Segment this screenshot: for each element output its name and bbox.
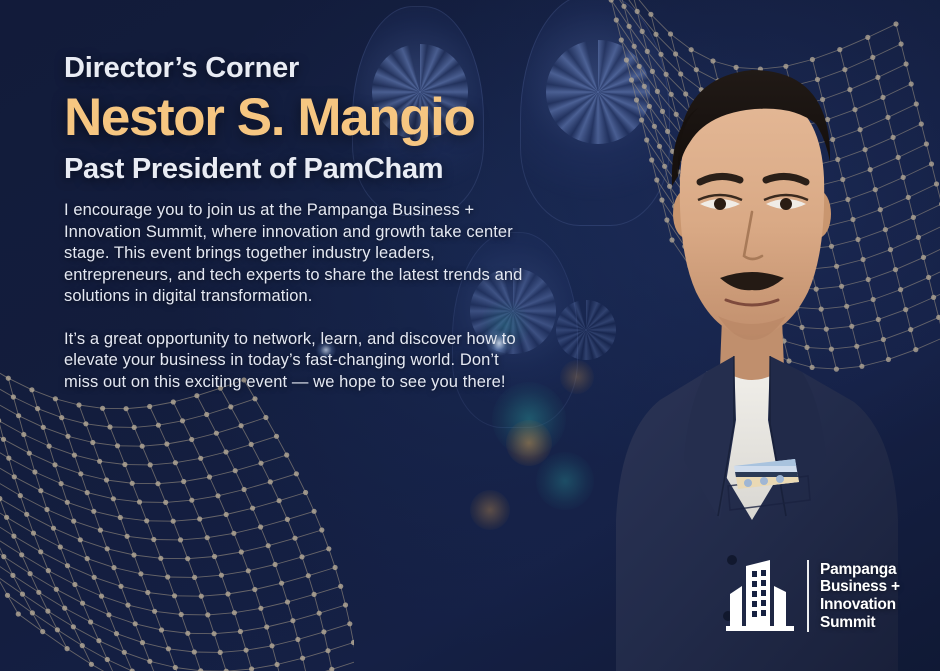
text-column: Director’s Corner Nestor S. Mangio Past …	[64, 52, 534, 393]
message-body: I encourage you to join us at the Pampan…	[64, 200, 534, 393]
logo-line-4: Summit	[820, 614, 900, 632]
paragraph: I encourage you to join us at the Pampan…	[64, 200, 534, 308]
logo-wordmark: Pampanga Business + Innovation Summit	[820, 561, 900, 631]
summit-logo: Pampanga Business + Innovation Summit	[724, 556, 900, 636]
amber-accent-glow	[470, 490, 510, 530]
directors-corner-poster: Director’s Corner Nestor S. Mangio Past …	[0, 0, 940, 671]
logo-line-1: Pampanga	[820, 561, 900, 579]
page-title: Nestor S. Mangio	[64, 90, 534, 145]
paragraph: It’s a great opportunity to network, lea…	[64, 329, 534, 394]
logo-line-3: Innovation	[820, 596, 900, 614]
logo-divider	[807, 560, 809, 632]
buildings-icon	[724, 556, 796, 636]
logo-line-2: Business +	[820, 578, 900, 596]
kicker-label: Director’s Corner	[64, 52, 534, 84]
role-subtitle: Past President of PamCham	[64, 153, 534, 185]
